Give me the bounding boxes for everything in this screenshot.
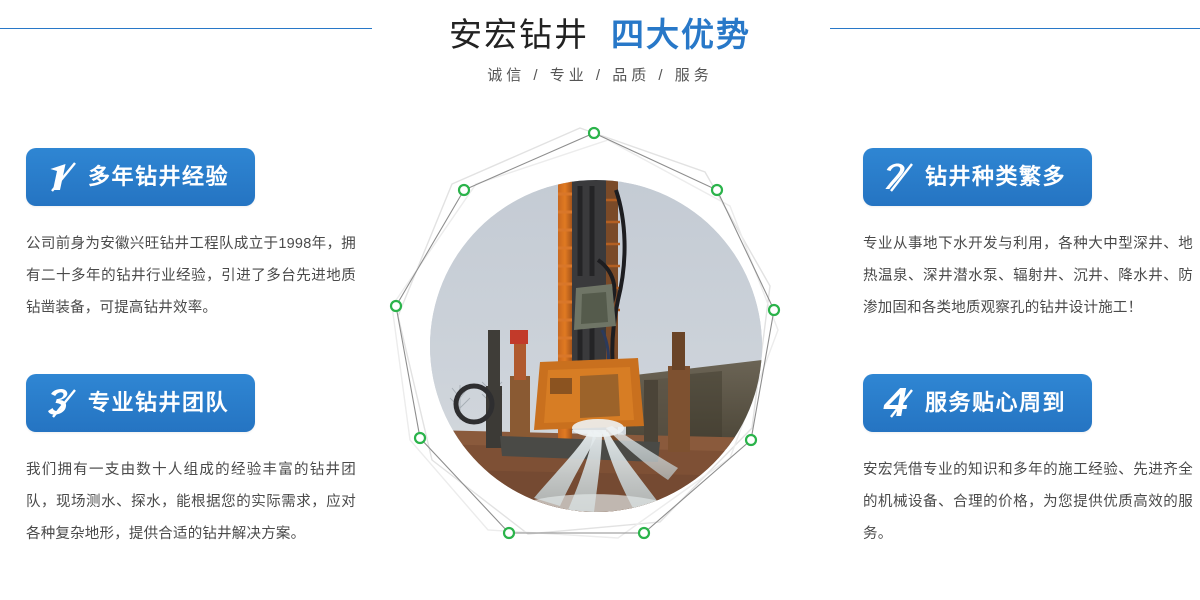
page-title-accent: 四大优势 [611,16,751,53]
promo-page: 安宏钻井四大优势 诚信 / 专业 / 品质 / 服务 多年钻井经验 公司前身为安… [0,0,1200,600]
number-three-icon [42,383,82,423]
number-four-icon [879,383,919,423]
number-two-icon [879,157,919,197]
feature-badge-4[interactable]: 服务贴心周到 [863,374,1092,432]
feature-badge-3[interactable]: 专业钻井团队 [26,374,255,432]
feature-card-3: 专业钻井团队 我们拥有一支由数十人组成的经验丰富的钻井团队，现场测水、探水，能根… [26,374,356,550]
center-graphic [380,110,820,580]
number-one-icon [42,157,82,197]
feature-title-2: 钻井种类繁多 [925,166,1066,188]
feature-body-4: 安宏凭借专业的知识和多年的施工经验、先进齐全的机械设备、合理的价格，为您提供优质… [863,454,1193,550]
page-header: 安宏钻井四大优势 诚信 / 专业 / 品质 / 服务 [0,0,1200,110]
feature-title-3: 专业钻井团队 [88,392,229,414]
page-subtitle: 诚信 / 专业 / 品质 / 服务 [0,64,1200,85]
page-title: 安宏钻井四大优势 [0,8,1200,56]
feature-body-1: 公司前身为安徽兴旺钻井工程队成立于1998年，拥有二十多年的钻井行业经验，引进了… [26,228,356,324]
feature-badge-2[interactable]: 钻井种类繁多 [863,148,1092,206]
feature-badge-1[interactable]: 多年钻井经验 [26,148,255,206]
feature-title-4: 服务贴心周到 [925,392,1066,414]
feature-card-2: 钻井种类繁多 专业从事地下水开发与利用，各种大中型深井、地热温泉、深井潜水泵、辐… [863,148,1193,324]
page-title-brand: 安宏钻井 [449,16,589,53]
polygon-node [415,433,425,443]
drilling-rig-photo [430,180,762,512]
feature-card-4: 服务贴心周到 安宏凭借专业的知识和多年的施工经验、先进齐全的机械设备、合理的价格… [863,374,1193,550]
feature-body-3: 我们拥有一支由数十人组成的经验丰富的钻井团队，现场测水、探水，能根据您的实际需求… [26,454,356,550]
polygon-node [391,301,401,311]
polygon-node [639,528,649,538]
feature-title-1: 多年钻井经验 [88,166,229,188]
polygon-node [589,128,599,138]
polygon-node [504,528,514,538]
feature-body-2: 专业从事地下水开发与利用，各种大中型深井、地热温泉、深井潜水泵、辐射井、沉井、降… [863,228,1193,324]
polygon-node [769,305,779,315]
feature-card-1: 多年钻井经验 公司前身为安徽兴旺钻井工程队成立于1998年，拥有二十多年的钻井行… [26,148,356,324]
